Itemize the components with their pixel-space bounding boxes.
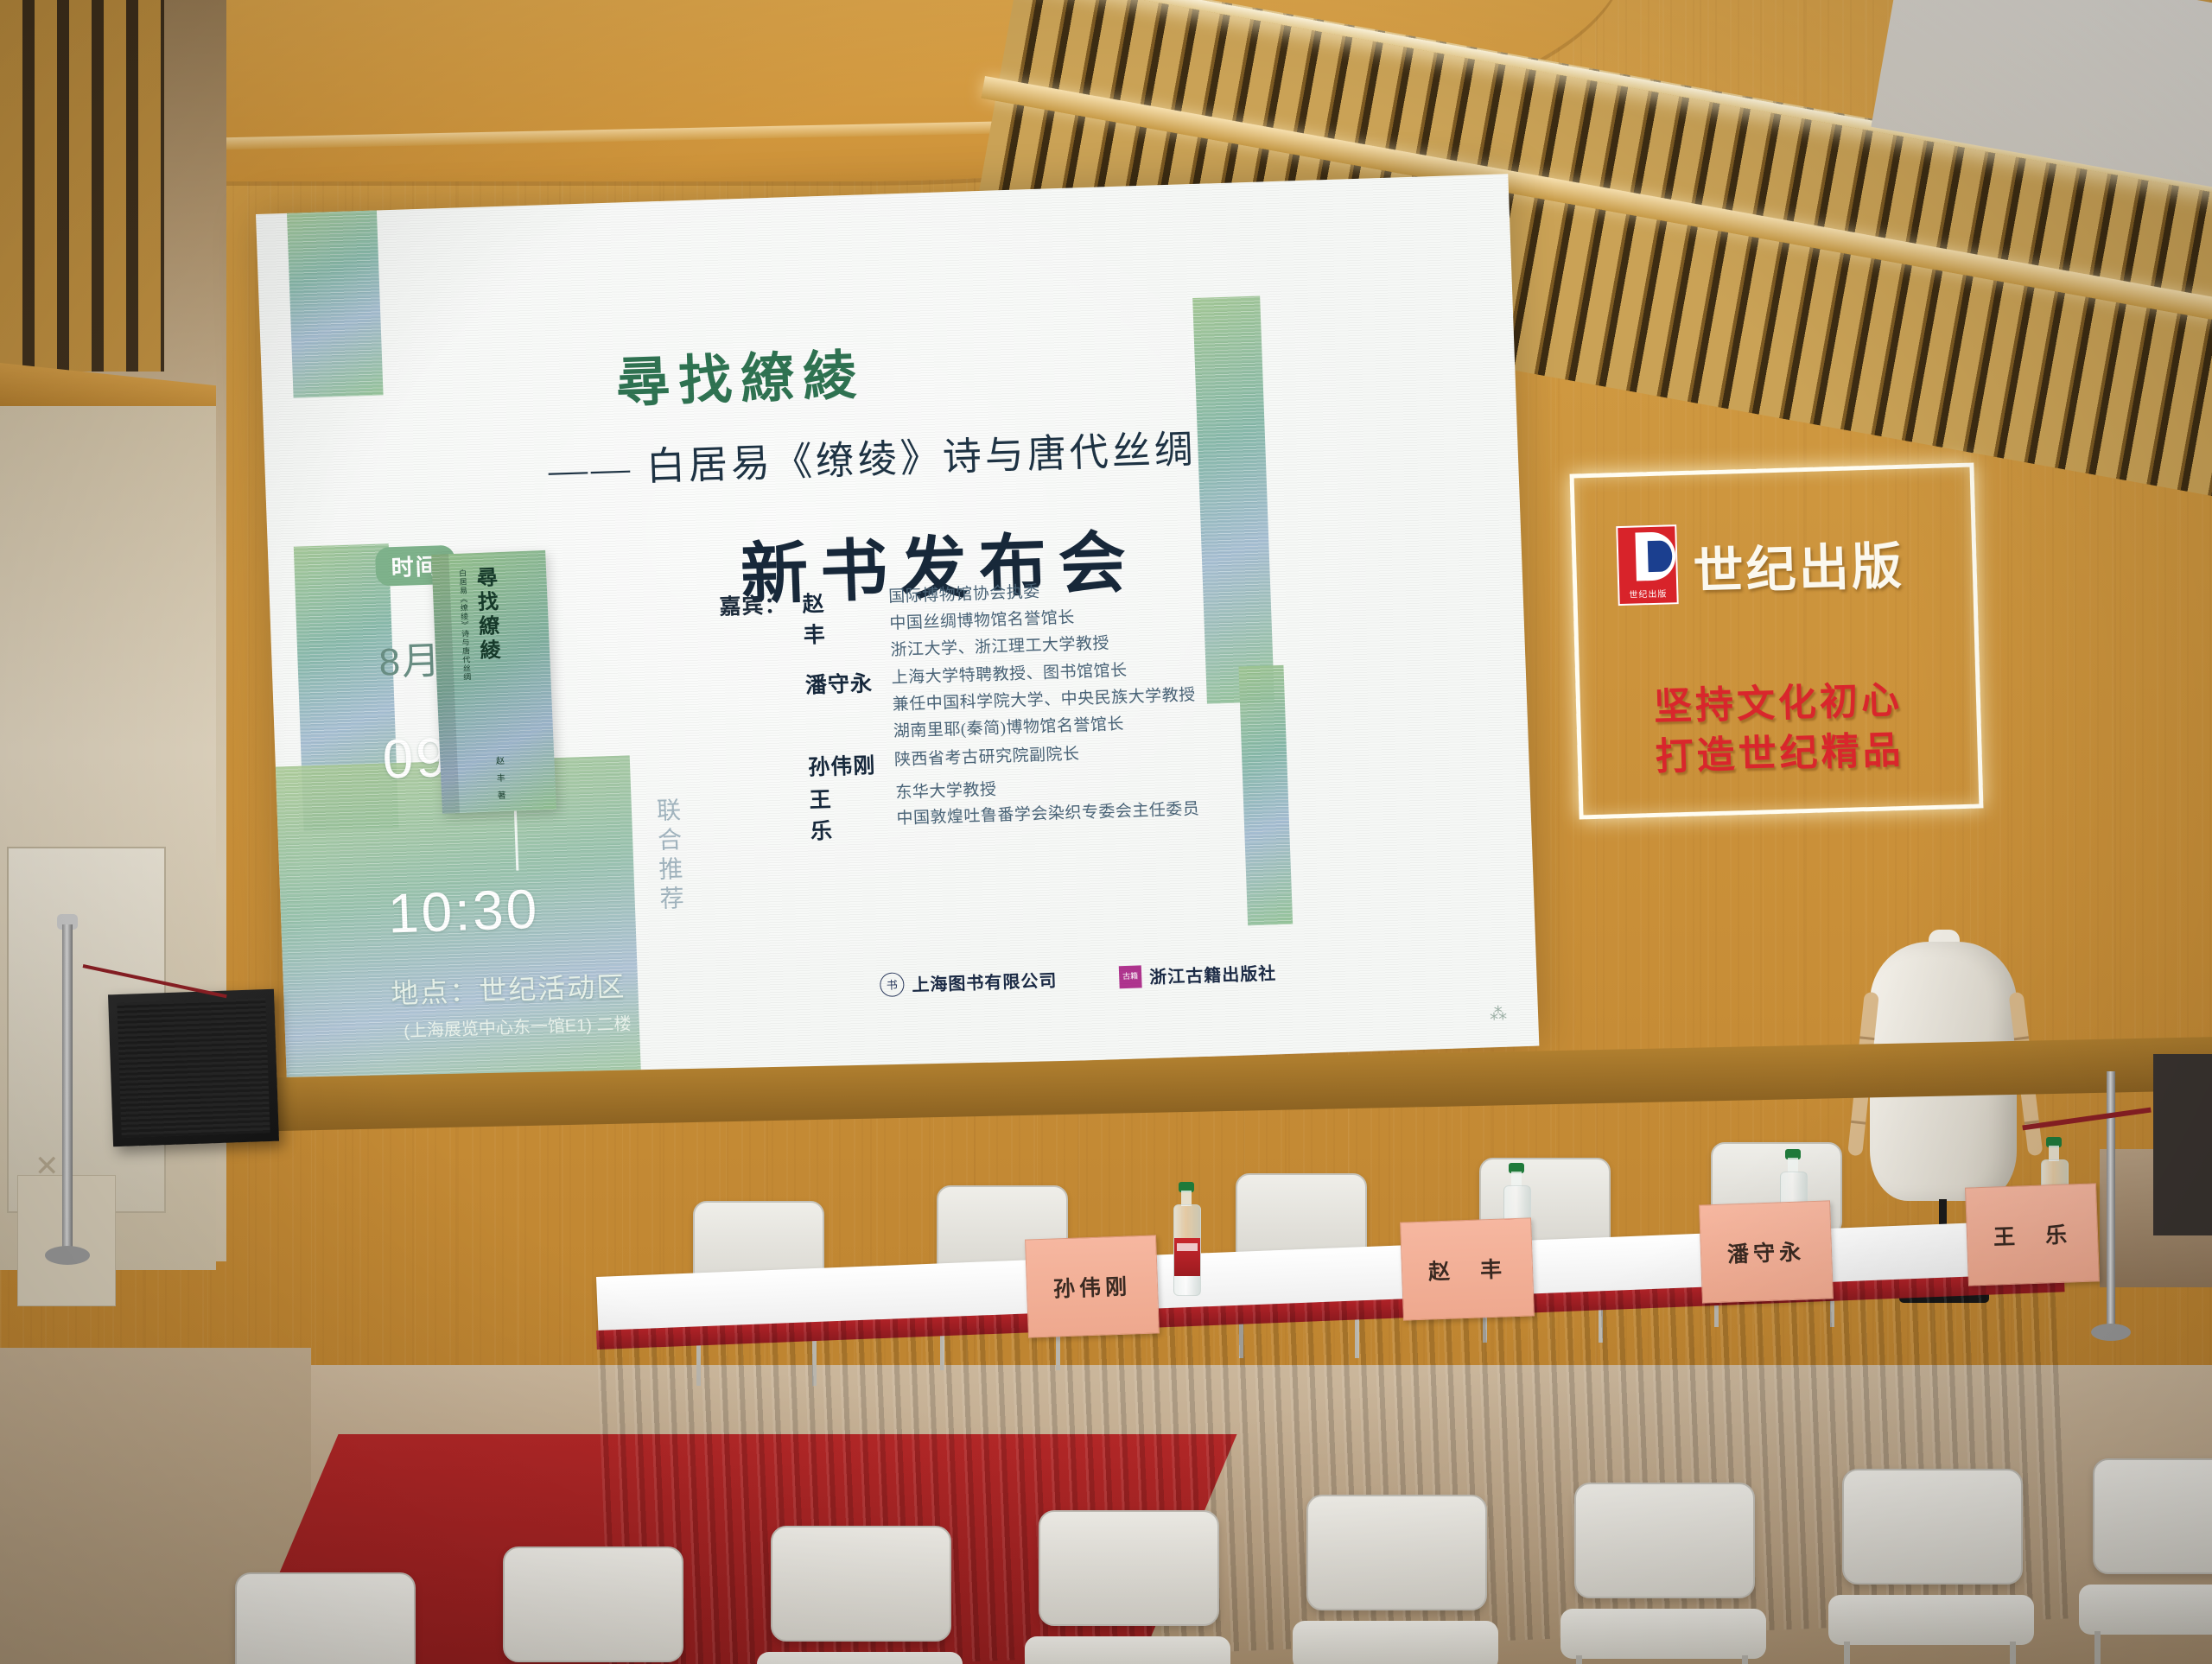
audience-chair xyxy=(1823,1469,2039,1664)
guest-name: 潘守永 xyxy=(804,666,892,700)
logo-caption: 世纪出版 xyxy=(1619,586,1676,600)
guest-name: 赵 丰 xyxy=(802,585,891,650)
sign-slogan: 坚持文化初心 打造世纪精品 xyxy=(1575,673,1982,784)
book-seal-icon: 书 xyxy=(880,972,905,997)
slide-publisher-logos: 书 上海图书有限公司 古籍 浙江古籍出版社 xyxy=(880,959,1277,997)
book-cover-title: 尋找繚綾 xyxy=(474,566,504,664)
wall-sign-shiji-publishing: 世纪出版 世纪出版 坚持文化初心 打造世纪精品 xyxy=(1570,463,1984,820)
name-card: 王 乐 xyxy=(1965,1183,2100,1286)
queue-stanchion-left xyxy=(45,924,90,1287)
audience-chair xyxy=(1020,1510,1236,1664)
guest-row: 嘉宾： 赵 丰 国际博物馆协会执委 中国丝绸博物馆名誉馆长 浙江大学、浙江理工大… xyxy=(719,575,1194,670)
guest-name: 孙伟刚 xyxy=(808,747,895,781)
recommendation-label: 联合推荐 xyxy=(648,797,687,915)
audience-chair xyxy=(1555,1483,1771,1664)
guest-list-label: 嘉宾： xyxy=(719,587,803,621)
publisher-logo-shanghai: 书 上海图书有限公司 xyxy=(880,967,1058,998)
book-cover-image: 尋找繚綾 白居易《缭绫》诗与唐代丝绸 赵 丰 著 xyxy=(431,550,556,814)
water-bottle xyxy=(1173,1182,1199,1296)
guest-titles: 东华大学教授 中国敦煌吐鲁番学会染织专委会主任委员 xyxy=(895,771,1200,834)
stanchion-base xyxy=(2091,1324,2131,1341)
guest-titles: 国际博物馆协会执委 中国丝绸博物馆名誉馆长 浙江大学、浙江理工大学教授 xyxy=(888,577,1110,664)
slide-title-main: 尋找繚綾 xyxy=(614,313,1429,416)
name-card-text: 潘守永 xyxy=(1726,1235,1805,1268)
sign-brand-text: 世纪出版 xyxy=(1692,525,1904,604)
slide-decoration-top-left xyxy=(287,205,384,397)
conference-room-scene: ✕ 尋找繚綾 —— 白居易《缭绫》诗与唐代丝绸 新书发布会 时间 8月16日 周… xyxy=(0,0,2212,1664)
right-dark-panel xyxy=(2153,1054,2212,1235)
audience-chair xyxy=(1287,1495,1503,1664)
guest-row: 潘守永 上海大学特聘教授、图书馆馆长 兼任中国科学院大学、中央民族大学教授 湖南… xyxy=(721,657,1197,752)
guest-title-line: 陕西省考古研究院副院长 xyxy=(894,741,1081,774)
slide-time-end: 10:30 xyxy=(387,877,648,943)
name-card: 赵 丰 xyxy=(1400,1217,1535,1320)
audience-chair xyxy=(216,1572,432,1664)
loudspeaker-box xyxy=(108,989,279,1147)
slide-decoration-right-lower xyxy=(1238,665,1293,925)
audience-chair xyxy=(2074,1458,2212,1664)
guest-titles: 上海大学特聘教授、图书馆馆长 兼任中国科学院大学、中央民族大学教授 湖南里耶(秦… xyxy=(891,657,1197,746)
slide-place: 地点：世纪活动区 xyxy=(391,964,651,1013)
red-seal-icon: 古籍 xyxy=(1119,965,1142,988)
name-card-text: 王 乐 xyxy=(1993,1217,2071,1251)
name-card: 潘守永 xyxy=(1699,1200,1834,1303)
projection-screen: 尋找繚綾 —— 白居易《缭绫》诗与唐代丝绸 新书发布会 时间 8月16日 周三 … xyxy=(256,174,1539,1086)
guest-name: 王 乐 xyxy=(809,780,898,845)
guest-list: 嘉宾： 赵 丰 国际博物馆协会执委 中国丝绸博物馆名誉馆长 浙江大学、浙江理工大… xyxy=(719,575,1200,849)
publisher-name: 上海图书有限公司 xyxy=(912,967,1058,996)
book-cover-author: 赵 丰 著 xyxy=(492,756,506,800)
guest-titles: 陕西省考古研究院副院长 xyxy=(894,741,1081,774)
guest-row: 王 乐 东华大学教授 中国敦煌吐鲁番学会染织专委会主任委员 xyxy=(726,771,1200,848)
name-card: 孙伟刚 xyxy=(1025,1235,1160,1337)
slide-corner-mark: ⁂ xyxy=(1490,1003,1508,1026)
shiji-logo-icon: 世纪出版 xyxy=(1616,524,1679,606)
speaker-grille xyxy=(117,998,270,1138)
publisher-logo-zhejiang: 古籍 浙江古籍出版社 xyxy=(1119,959,1277,989)
stanchion-post xyxy=(2107,1071,2115,1331)
slide-surface: 尋找繚綾 —— 白居易《缭绫》诗与唐代丝绸 新书发布会 时间 8月16日 周三 … xyxy=(256,174,1539,1086)
stanchion-base xyxy=(45,1246,90,1265)
audience-chair xyxy=(484,1547,700,1664)
stanchion-post xyxy=(62,924,73,1253)
name-card-text: 孙伟刚 xyxy=(1052,1269,1131,1303)
audience-chair xyxy=(752,1526,968,1664)
publisher-name: 浙江古籍出版社 xyxy=(1149,959,1277,988)
name-card-text: 赵 丰 xyxy=(1427,1252,1506,1286)
slide-title-sub: —— 白居易《缭绫》诗与唐代丝绸 xyxy=(547,410,1432,494)
left-wall-slats xyxy=(0,0,164,372)
